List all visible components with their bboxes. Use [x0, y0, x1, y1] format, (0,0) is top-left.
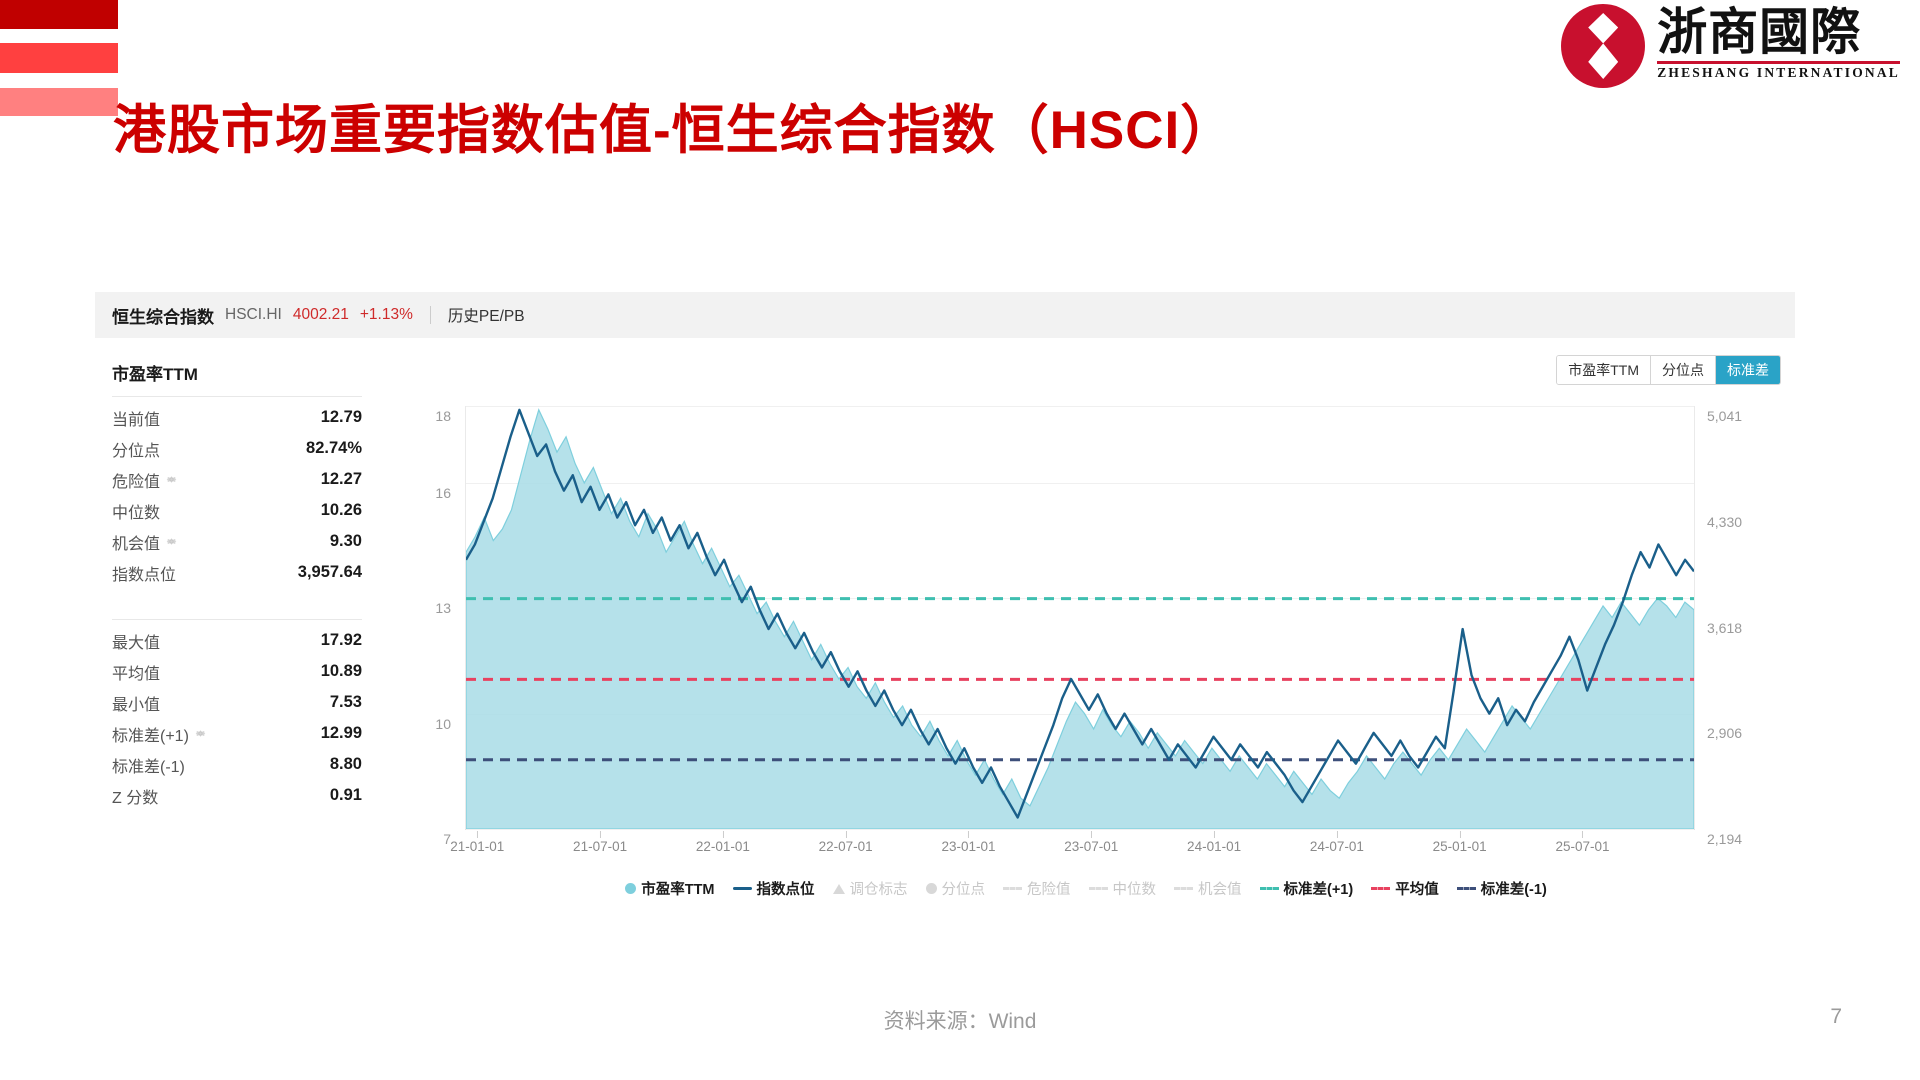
legend-dash-icon — [1003, 887, 1022, 890]
legend-dash-icon — [1371, 887, 1390, 890]
y-axis-left: 181613107 — [385, 406, 457, 830]
y-tick-left-2: 13 — [435, 600, 451, 616]
y-axis-right: 5,0414,3303,6182,9062,194 — [1701, 406, 1787, 830]
stat-row: 标准差(+1)12.99 — [112, 718, 362, 749]
toggle-1[interactable]: 市盈率TTM — [1557, 356, 1651, 384]
y-tick-right-4: 2,194 — [1707, 831, 1742, 847]
stat-row: 平均值10.89 — [112, 656, 362, 687]
x-tick-0: 21-01-01 — [450, 839, 504, 854]
stat-primary-label-2: 危险值 — [112, 468, 178, 492]
stats-panel: 当前值12.79分位点82.74%危险值12.27中位数10.26机会值9.30… — [112, 396, 362, 811]
index-price: 4002.21 — [293, 306, 349, 324]
y-tick-left-0: 18 — [435, 408, 451, 424]
stat-primary-value-1: 82.74% — [306, 439, 362, 458]
legend-dot-icon — [926, 883, 937, 894]
stat-row: 分位点82.74% — [112, 433, 362, 464]
stat-primary-label-4: 机会值 — [112, 530, 178, 554]
stat-primary-label-0: 当前值 — [112, 406, 160, 430]
legend-label: 中位数 — [1113, 878, 1157, 899]
stat-row: 危险值12.27 — [112, 464, 362, 495]
legend-label: 机会值 — [1198, 878, 1242, 899]
x-tick-4: 23-01-01 — [941, 839, 995, 854]
stat-primary-value-5: 3,957.64 — [298, 563, 362, 582]
slide-root: 浙商國際 ZHESHANG INTERNATIONAL 港股市场重要指数估值-恒… — [0, 0, 1920, 1080]
valuation-widget: 恒生综合指数 HSCI.HI 4002.21 +1.13% 历史PE/PB 市盈… — [95, 292, 1795, 917]
logo-english-name: ZHESHANG INTERNATIONAL — [1657, 65, 1900, 81]
legend-label: 调仓标志 — [850, 878, 908, 899]
legend-label: 指数点位 — [757, 878, 815, 899]
y-tick-right-0: 5,041 — [1707, 408, 1742, 424]
gridline — [466, 829, 1694, 830]
legend-dash-icon — [1089, 887, 1108, 890]
stat-secondary-value-2: 7.53 — [330, 693, 362, 712]
legend-item-2[interactable]: 调仓标志 — [833, 878, 908, 899]
stat-row: 标准差(-1)8.80 — [112, 749, 362, 780]
legend-item-8[interactable]: 平均值 — [1371, 878, 1439, 899]
toggle-3[interactable]: 标准差 — [1716, 356, 1780, 384]
stats-group-secondary: 最大值17.92平均值10.89最小值7.53标准差(+1)12.99标准差(-… — [112, 619, 362, 811]
x-tick-2: 22-01-01 — [696, 839, 750, 854]
legend-item-7[interactable]: 标准差(+1) — [1260, 878, 1354, 899]
stat-row: 机会值9.30 — [112, 526, 362, 557]
y-tick-left-1: 16 — [435, 485, 451, 501]
gear-icon[interactable] — [194, 727, 207, 740]
stat-row: 最小值7.53 — [112, 687, 362, 718]
chart-legend[interactable]: 市盈率TTM指数点位调仓标志分位点危险值中位数机会值标准差(+1)平均值标准差(… — [385, 878, 1787, 899]
stat-secondary-label-1: 平均值 — [112, 660, 160, 684]
stat-secondary-label-0: 最大值 — [112, 629, 160, 653]
x-tick-6: 24-01-01 — [1187, 839, 1241, 854]
stat-secondary-value-0: 17.92 — [321, 631, 362, 650]
y-tick-right-3: 2,906 — [1707, 725, 1742, 741]
legend-dash-icon — [1174, 887, 1193, 890]
stat-secondary-label-4: 标准差(-1) — [112, 753, 185, 777]
metric-toggle-group[interactable]: 市盈率TTM分位点标准差 — [1556, 355, 1781, 385]
index-change-pct: +1.13% — [360, 306, 413, 324]
stat-primary-label-1: 分位点 — [112, 437, 160, 461]
stat-secondary-value-4: 8.80 — [330, 755, 362, 774]
tab-history-pe-pb[interactable]: 历史PE/PB — [448, 304, 525, 326]
series-area-pe — [466, 410, 1694, 829]
legend-item-6[interactable]: 机会值 — [1174, 878, 1242, 899]
legend-item-0[interactable]: 市盈率TTM — [625, 878, 714, 899]
stat-secondary-value-1: 10.89 — [321, 662, 362, 681]
x-tick-7: 24-07-01 — [1310, 839, 1364, 854]
index-name: 恒生综合指数 — [112, 303, 214, 328]
chart-svg — [466, 406, 1694, 829]
deco-bar-1 — [0, 0, 118, 29]
stat-primary-label-5: 指数点位 — [112, 561, 176, 585]
logo-mark-icon — [1561, 4, 1645, 88]
x-tick-3: 22-07-01 — [819, 839, 873, 854]
logo-text: 浙商國際 ZHESHANG INTERNATIONAL — [1657, 4, 1900, 81]
legend-item-5[interactable]: 中位数 — [1089, 878, 1157, 899]
legend-item-1[interactable]: 指数点位 — [733, 878, 815, 899]
stat-primary-value-4: 9.30 — [330, 532, 362, 551]
legend-item-9[interactable]: 标准差(-1) — [1457, 878, 1547, 899]
legend-item-3[interactable]: 分位点 — [926, 878, 986, 899]
gear-icon[interactable] — [165, 473, 178, 486]
legend-item-4[interactable]: 危险值 — [1003, 878, 1071, 899]
y-tick-right-1: 4,330 — [1707, 514, 1742, 530]
deco-bar-2 — [0, 43, 118, 73]
logo-chinese-name: 浙商國際 — [1657, 4, 1900, 60]
stat-primary-value-0: 12.79 — [321, 408, 362, 427]
legend-label: 市盈率TTM — [641, 878, 714, 899]
stat-row: 指数点位3,957.64 — [112, 557, 362, 588]
source-note: 资料来源：Wind — [884, 1005, 1037, 1035]
widget-header: 恒生综合指数 HSCI.HI 4002.21 +1.13% 历史PE/PB — [95, 292, 1795, 338]
legend-label: 标准差(-1) — [1481, 878, 1547, 899]
stat-primary-value-2: 12.27 — [321, 470, 362, 489]
x-tick-8: 25-01-01 — [1433, 839, 1487, 854]
page-title: 港股市场重要指数估值-恒生综合指数（HSCI） — [113, 88, 1234, 164]
widget-body: 市盈率TTM 市盈率TTM分位点标准差 当前值12.79分位点82.74%危险值… — [95, 338, 1795, 917]
stat-primary-value-3: 10.26 — [321, 501, 362, 520]
header-divider — [430, 306, 431, 324]
toggle-2[interactable]: 分位点 — [1651, 356, 1716, 384]
valuation-chart[interactable]: 181613107 5,0414,3303,6182,9062,194 21-0… — [385, 396, 1787, 866]
legend-label: 平均值 — [1395, 878, 1439, 899]
y-tick-left-3: 10 — [435, 716, 451, 732]
legend-dash-icon — [1260, 887, 1279, 890]
legend-dash-icon — [1457, 887, 1476, 890]
x-tick-1: 21-07-01 — [573, 839, 627, 854]
y-tick-right-2: 3,618 — [1707, 620, 1742, 636]
x-axis: 21-01-0121-07-0122-01-0122-07-0123-01-01… — [465, 832, 1695, 866]
stat-secondary-label-2: 最小值 — [112, 691, 160, 715]
legend-label: 标准差(+1) — [1284, 878, 1354, 899]
stat-secondary-value-5: 0.91 — [330, 786, 362, 805]
stat-secondary-label-5: Z 分数 — [112, 784, 158, 808]
stat-secondary-label-3: 标准差(+1) — [112, 722, 207, 746]
stats-group-primary: 当前值12.79分位点82.74%危险值12.27中位数10.26机会值9.30… — [112, 396, 362, 588]
legend-label: 分位点 — [942, 878, 986, 899]
logo-divider — [1657, 61, 1900, 64]
stat-secondary-value-3: 12.99 — [321, 724, 362, 743]
stat-row: 中位数10.26 — [112, 495, 362, 526]
legend-triangle-icon — [833, 884, 845, 894]
legend-line-icon — [733, 887, 752, 890]
stat-row: 当前值12.79 — [112, 402, 362, 433]
metric-title: 市盈率TTM — [112, 360, 198, 385]
stat-primary-label-3: 中位数 — [112, 499, 160, 523]
index-code: HSCI.HI — [225, 306, 282, 324]
plot-area[interactable] — [465, 406, 1695, 830]
stat-row: Z 分数0.91 — [112, 780, 362, 811]
legend-dot-icon — [625, 883, 636, 894]
legend-label: 危险值 — [1027, 878, 1071, 899]
company-logo: 浙商國際 ZHESHANG INTERNATIONAL — [1561, 4, 1900, 88]
gear-icon[interactable] — [165, 535, 178, 548]
stat-row: 最大值17.92 — [112, 625, 362, 656]
x-tick-9: 25-07-01 — [1555, 839, 1609, 854]
x-tick-5: 23-07-01 — [1064, 839, 1118, 854]
deco-bar-3 — [0, 88, 118, 116]
page-number: 7 — [1830, 1005, 1842, 1029]
